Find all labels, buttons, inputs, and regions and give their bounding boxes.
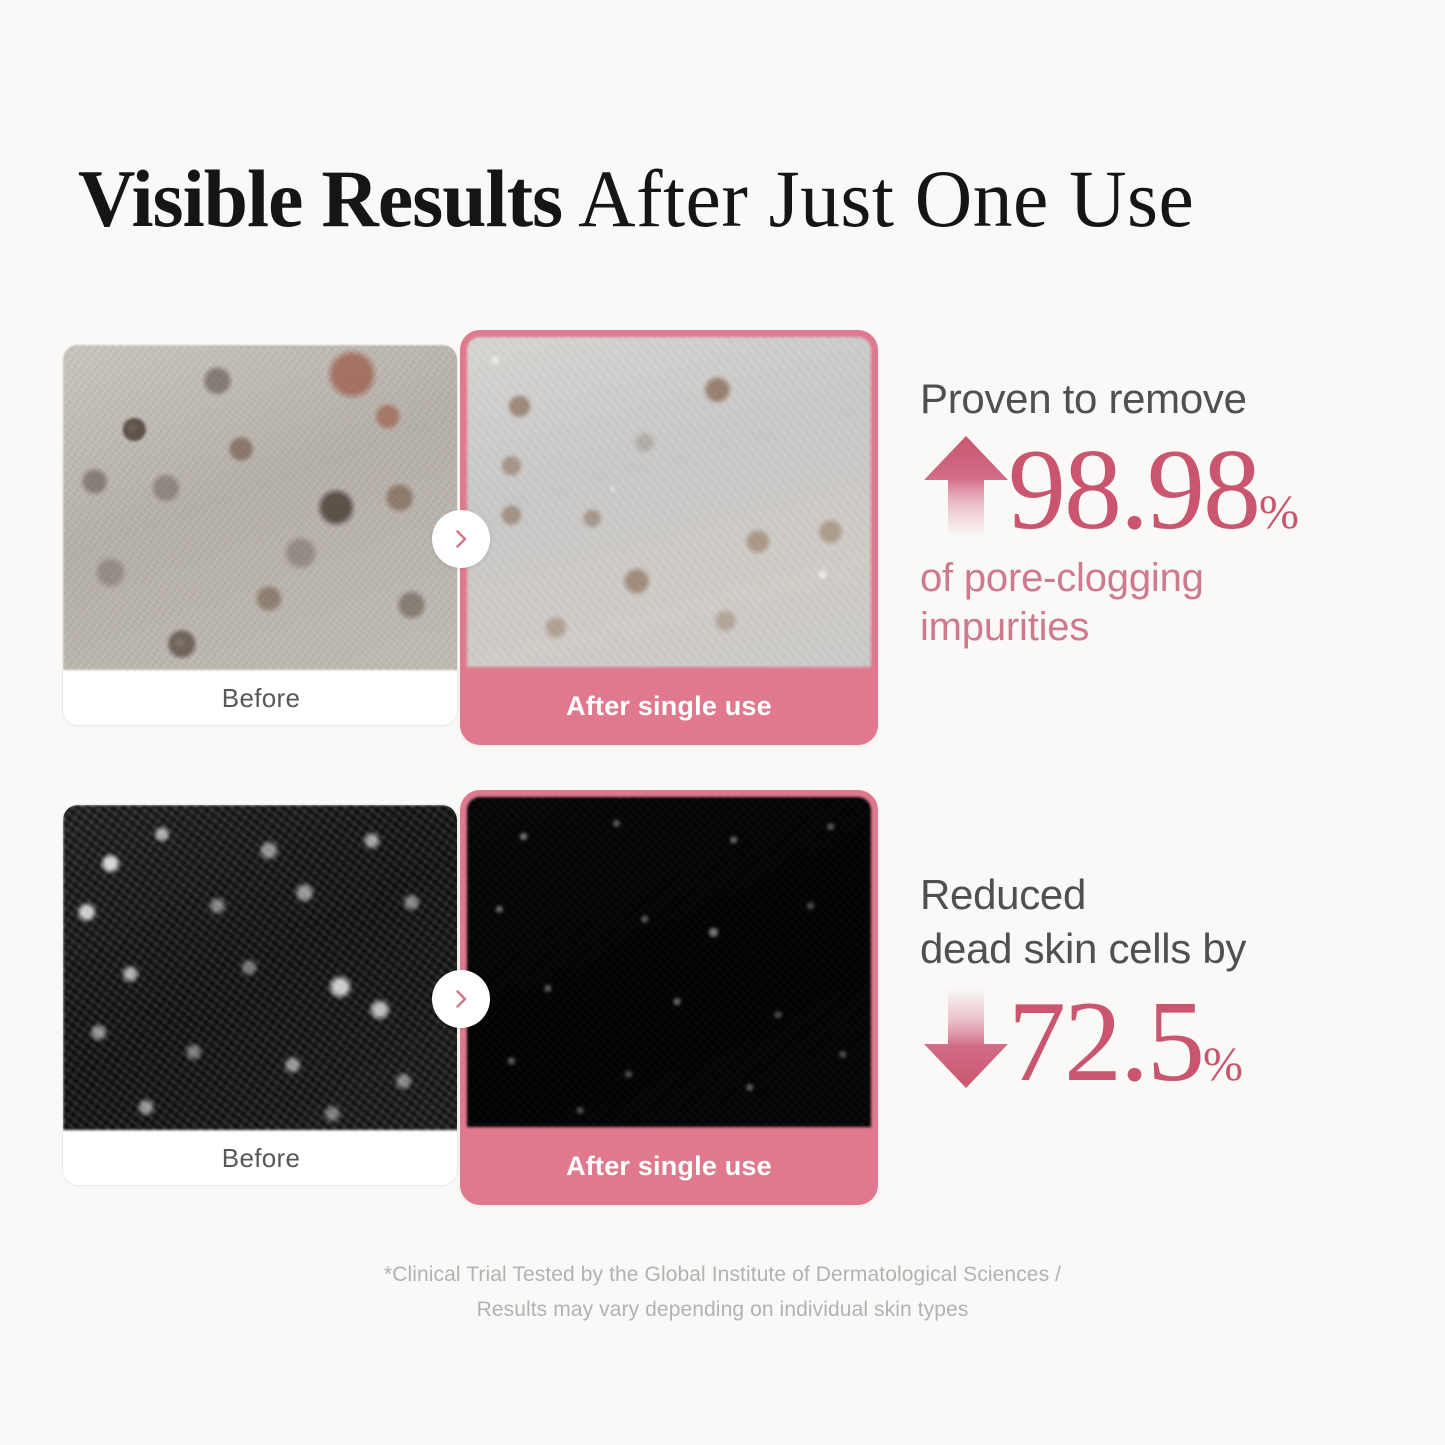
stat-value-dead-skin: 72.5% xyxy=(1008,994,1243,1091)
arrow-up-icon xyxy=(920,432,1012,540)
after-label-2: After single use xyxy=(460,1127,878,1205)
stat-figure-dead-skin: 72.5% xyxy=(920,982,1246,1092)
stat-unit-text: % xyxy=(1259,486,1299,539)
after-card-1: After single use xyxy=(460,330,878,745)
chevron-right-icon-2 xyxy=(432,970,490,1028)
stat-lead-impurities: Proven to remove xyxy=(920,372,1299,426)
page-title-light: After Just One Use xyxy=(562,153,1194,244)
stat-lead-dead-skin: Reduced dead skin cells by xyxy=(920,868,1246,976)
after-label-1: After single use xyxy=(460,667,878,745)
before-label-2: Before xyxy=(63,1130,458,1186)
infographic-page: Visible Results After Just One Use Befor… xyxy=(0,0,1445,1445)
stat-lead-line-2: dead skin cells by xyxy=(920,922,1246,976)
stat-block-dead-skin: Reduced dead skin cells by xyxy=(920,868,1246,1092)
after-image-1 xyxy=(467,337,871,667)
before-label-1: Before xyxy=(63,670,458,726)
before-card-1: Before xyxy=(62,344,458,726)
before-image-1 xyxy=(63,345,458,670)
footnote: *Clinical Trial Tested by the Global Ins… xyxy=(0,1258,1445,1327)
footnote-line-1: *Clinical Trial Tested by the Global Ins… xyxy=(0,1258,1445,1293)
before-card-2: Before xyxy=(62,804,458,1186)
before-image-2 xyxy=(63,805,458,1130)
page-title-bold: Visible Results xyxy=(78,153,562,244)
stat-lead-line-1: Reduced xyxy=(920,868,1246,922)
chevron-right-icon-1 xyxy=(432,510,490,568)
stat-unit-text: % xyxy=(1203,1038,1243,1091)
footnote-line-2: Results may vary depending on individual… xyxy=(0,1293,1445,1328)
stat-sub-impurities: of pore-clogging impurities xyxy=(920,554,1299,652)
stat-figure-impurities: 98.98% xyxy=(920,432,1299,540)
stat-sub-line-2: impurities xyxy=(920,603,1299,652)
stat-value-impurities: 98.98% xyxy=(1008,442,1299,539)
stat-number-text: 72.5 xyxy=(1008,978,1203,1106)
after-card-2: After single use xyxy=(460,790,878,1205)
page-title: Visible Results After Just One Use xyxy=(78,158,1339,240)
stat-sub-line-1: of pore-clogging xyxy=(920,554,1299,603)
stat-block-impurities: Proven to remove 98.98% xyxy=(920,372,1299,651)
after-image-2 xyxy=(467,797,871,1127)
arrow-down-icon xyxy=(920,982,1012,1092)
stat-number-text: 98.98 xyxy=(1008,426,1259,554)
